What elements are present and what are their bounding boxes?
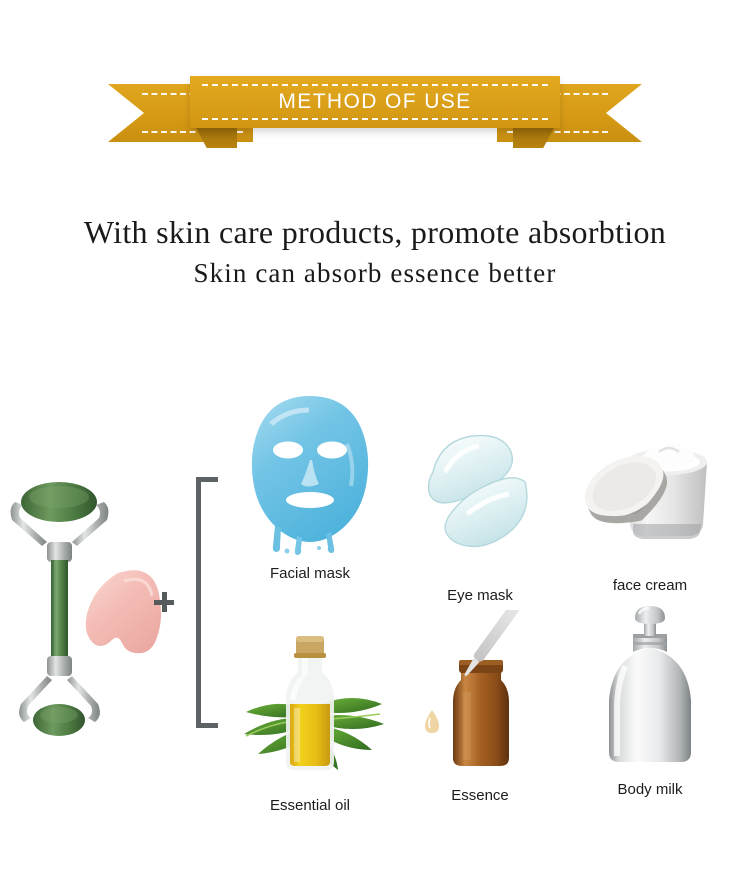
face-cream-jar-icon <box>565 400 735 568</box>
headline-secondary: Skin can absorb essence better <box>0 258 750 289</box>
headline-primary: With skin care products, promote absorbt… <box>0 214 750 251</box>
product-item-essence: Essence <box>395 610 565 810</box>
grouping-bracket <box>196 477 218 728</box>
eye-mask-icon <box>395 410 565 578</box>
product-grid: Facial mask Eye mask <box>225 388 735 818</box>
essence-dropper-bottle-icon <box>395 610 565 778</box>
product-item-eye-mask: Eye mask <box>395 410 565 610</box>
product-label: Facial mask <box>225 565 395 582</box>
facial-mask-icon <box>225 388 395 556</box>
method-of-use-banner: METHOD OF USE <box>0 38 750 148</box>
product-label: Body milk <box>565 781 735 798</box>
plus-symbol-icon <box>154 592 174 612</box>
essential-oil-bottle-icon <box>225 620 395 788</box>
product-label: Essential oil <box>225 797 395 814</box>
product-item-facial-mask: Facial mask <box>225 388 395 588</box>
product-label: Essence <box>395 787 565 804</box>
product-label: face cream <box>565 577 735 594</box>
product-item-body-milk: Body milk <box>565 604 735 804</box>
ribbon-fold-left <box>195 126 237 148</box>
banner-title: METHOD OF USE <box>190 76 560 128</box>
product-label: Eye mask <box>395 587 565 604</box>
product-item-essential-oil: Essential oil <box>225 620 395 820</box>
body-milk-bottle-icon <box>565 604 735 772</box>
product-item-face-cream: face cream <box>565 400 735 600</box>
ribbon-fold-right <box>513 126 555 148</box>
ribbon-band: METHOD OF USE <box>190 76 560 128</box>
